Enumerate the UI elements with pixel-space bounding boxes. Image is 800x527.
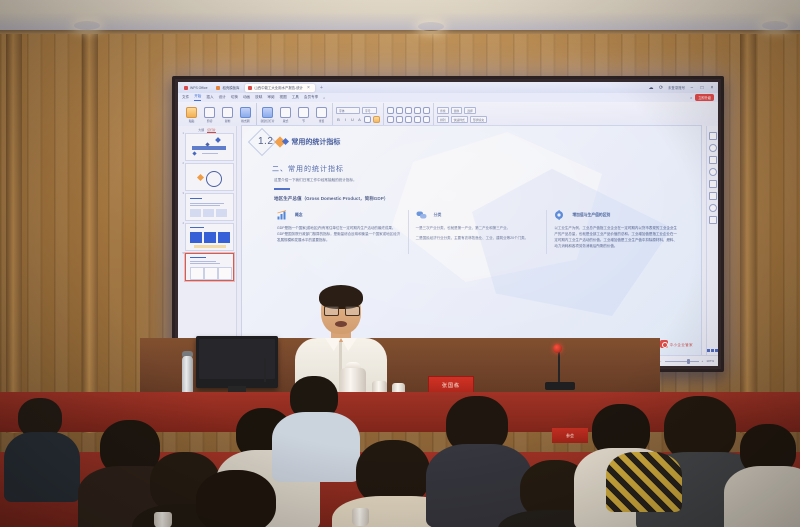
align-center-icon[interactable]: [396, 116, 403, 123]
thumbnail-preview[interactable]: [185, 223, 234, 251]
microphone-stalk-right: [558, 352, 560, 384]
account-label[interactable]: 未登录账号: [668, 85, 685, 90]
slide-section-header: 1.2 常用的统计指标: [258, 136, 340, 147]
thumbnail-item[interactable]: 1: [180, 133, 234, 161]
button-label: 节: [302, 119, 305, 123]
zoom-out-button[interactable]: −: [660, 359, 662, 363]
button-label: 版式: [283, 119, 289, 123]
media-icon[interactable]: [709, 144, 717, 152]
cloud-icon[interactable]: ☁: [648, 85, 654, 91]
slide-description: 这里介绍一下我们日常工作中经常接触的统计指标。: [274, 178, 357, 183]
slide-divider: [274, 188, 290, 190]
select-button[interactable]: 选择: [464, 107, 476, 114]
thumbnail-number: 2: [180, 163, 184, 166]
watermark-text: 中小企业管家: [670, 342, 693, 347]
menu-bar: 文件 开始 插入 设计 切换 动画 放映 审阅 视图 工具 会员专享 ⌕ ⌂ 立…: [178, 93, 718, 102]
tea-cup: [154, 512, 172, 527]
new-tab-button[interactable]: +: [318, 85, 325, 91]
title-bar: WPS Office 稻壳模板库 山西中能工大业用水产报告-统计 × + ☁: [178, 82, 718, 93]
zoom-slider-knob[interactable]: [687, 359, 690, 364]
menu-item-design[interactable]: 设计: [219, 95, 226, 100]
nameplate-text: 参会: [566, 433, 574, 439]
thumbnail-preview[interactable]: [185, 133, 234, 161]
edit-row-2: 排列 快速样式 形状填充: [437, 116, 487, 123]
menu-item-member[interactable]: 会员专享: [304, 95, 318, 100]
shape-fill-button[interactable]: 形状填充: [470, 116, 487, 123]
menu-item-tools[interactable]: 工具: [292, 95, 299, 100]
bullet-list-icon[interactable]: [387, 107, 394, 114]
bold-button[interactable]: B: [336, 117, 341, 122]
text-color-icon[interactable]: [364, 116, 371, 123]
tab-active-document[interactable]: 山西中能工大业用水产报告-统计 ×: [245, 84, 315, 92]
slide-thumbnail-panel[interactable]: 大纲 幻灯片 1: [178, 126, 237, 356]
slides-tab[interactable]: 幻灯片: [207, 128, 215, 133]
menu-item-animation[interactable]: 动画: [243, 95, 250, 100]
icon-library-icon[interactable]: [709, 192, 717, 200]
thumbnail-number: 1: [180, 133, 184, 136]
layout-button[interactable]: 版式: [278, 107, 293, 123]
design-ideas-icon[interactable]: [709, 132, 717, 140]
para-row-2: [387, 116, 430, 123]
slide-heading: 二、常用的统计指标: [272, 164, 344, 174]
wall-pillar: [6, 33, 22, 433]
ribbon-group-paragraph: [384, 103, 434, 127]
slide-columns: 概念 GDP是指一个国家(或地区)所有常住单位在一定时期内生产活动的最终成果。G…: [270, 210, 685, 254]
maximize-button[interactable]: □: [699, 85, 705, 91]
display-screen: WPS Office 稻壳模板库 山西中能工大业用水产报告-统计 × + ☁: [178, 82, 718, 366]
column-paragraph: 以工业生产为例，工业总产值指工业企业在一定时期内以货币表现的工业企业生产的产品总…: [554, 225, 678, 250]
display-screen-bezel: WPS Office 稻壳模板库 山西中能工大业用水产报告-统计 × + ☁: [172, 76, 724, 372]
cogwheel-icon: [554, 210, 565, 220]
thumbnail-preview[interactable]: [185, 193, 234, 221]
reset-icon: [316, 107, 327, 118]
conference-room-photo: WPS Office 稻壳模板库 山西中能工大业用水产报告-统计 × + ☁: [0, 0, 800, 527]
reset-button[interactable]: 重置: [314, 107, 329, 123]
replace-button[interactable]: 替换: [451, 107, 463, 114]
column-body: 以工业生产为例，工业总产值指工业企业在一定时期内以货币表现的工业企业生产的产品总…: [554, 225, 678, 250]
column-body: 一是三次产业分类，也就是第一产业、第二产业和第三产业。 二是国民经济行业分类，主…: [416, 225, 540, 241]
downlight-right-icon: [762, 21, 788, 30]
button-label: 粘贴: [189, 119, 195, 123]
downlight-left-icon: [74, 21, 100, 30]
search-icon[interactable]: ⌕: [323, 96, 325, 100]
align-justify-icon[interactable]: [414, 116, 421, 123]
downlight-center-icon: [418, 22, 444, 31]
slide-column-concept: 概念 GDP是指一个国家(或地区)所有常住单位在一定时期内生产活动的最终成果。G…: [270, 210, 409, 254]
zoom-in-button[interactable]: +: [702, 359, 704, 363]
table-icon[interactable]: [709, 180, 717, 188]
column-paragraph: 二是国民经济行业分类，主要有农林牧渔业、工业、建筑业等20个门类。: [416, 235, 540, 241]
section-number: 1.2: [258, 136, 273, 147]
tab-label: 山西中能工大业用水产报告-统计: [254, 85, 303, 90]
ribbon-group-slides: 新建幻灯片 版式 节 重置: [257, 103, 333, 127]
font-row-1: 字体 字号: [336, 107, 380, 114]
thumbnail-preview[interactable]: [185, 163, 234, 191]
button-label: 剪切: [207, 119, 213, 123]
new-slide-button[interactable]: 新建幻灯片: [260, 107, 275, 123]
thumbnail-number: 5: [180, 253, 184, 256]
align-right-icon[interactable]: [405, 116, 412, 123]
column-title: 增加值与生产值的区别: [572, 213, 610, 218]
thumbnail-number: 4: [180, 223, 184, 226]
close-icon[interactable]: ×: [305, 85, 312, 91]
column-body: GDP是指一个国家(或地区)所有常住单位在一定时期内生产活动的最终成果。GDP是…: [277, 225, 401, 243]
button-label: 新建幻灯片: [261, 119, 275, 123]
menu-item-review[interactable]: 审阅: [267, 95, 274, 100]
section-button[interactable]: 节: [296, 107, 311, 123]
microphone-base-right: [545, 382, 575, 390]
edit-row-1: 查找 替换 选择: [437, 107, 487, 114]
text-direction-icon[interactable]: [423, 116, 430, 123]
thumbnail-item[interactable]: 2: [180, 163, 234, 191]
underline-button[interactable]: U: [350, 117, 355, 122]
column-header: 分类: [416, 210, 540, 220]
format-painter-button[interactable]: 格式刷: [238, 107, 253, 123]
microphone-stalk-left: [264, 358, 266, 384]
outline-tab[interactable]: 大纲: [198, 128, 204, 132]
indent-increase-icon[interactable]: [414, 107, 421, 114]
rail-footer: [707, 349, 718, 352]
wall-pillar: [82, 33, 98, 433]
slide-column-difference: 增加值与生产值的区别 以工业生产为例，工业总产值指工业企业在一定时期内以货币表现…: [547, 210, 685, 254]
title-bar-right: ☁ ⟳ 未登录账号 − □ ×: [648, 85, 715, 91]
chat-bubbles-icon: [416, 210, 427, 220]
slide-term: 地区生产总值（Gross Domestic Product，简称GDP）: [274, 196, 388, 202]
view-reading-icon[interactable]: [715, 349, 718, 352]
column-title: 分类: [434, 213, 442, 218]
wall-pillar: [740, 33, 756, 433]
ribbon-group-font: 字体 字号 B I U A: [333, 103, 384, 127]
column-header: 概念: [277, 210, 401, 220]
new-slide-icon: [262, 107, 273, 118]
copy-icon: [222, 107, 233, 118]
presenter-mouth: [335, 321, 347, 327]
upgrade-button[interactable]: 立即升级: [695, 94, 714, 101]
text-effect-button[interactable]: A: [357, 117, 362, 122]
menu-item-slideshow[interactable]: 放映: [255, 95, 262, 100]
find-button[interactable]: 查找: [437, 107, 449, 114]
button-label: 复制: [225, 119, 231, 123]
menu-item-insert[interactable]: 插入: [206, 95, 213, 100]
tab-wps-home[interactable]: WPS Office: [181, 84, 210, 92]
line-spacing-icon[interactable]: [423, 107, 430, 114]
watermark-logo-icon: [660, 340, 668, 348]
thumbnail-item[interactable]: 4: [180, 223, 234, 251]
para-row-1: [387, 107, 430, 114]
column-paragraph: GDP是指一个国家(或地区)所有常住单位在一定时期内生产活动的最终成果。GDP是…: [277, 225, 401, 243]
ribbon-group-editing: 查找 替换 选择 排列 快速样式 形状填充: [434, 103, 490, 127]
column-header: 增加值与生产值的区别: [554, 210, 678, 220]
editing-controls: 查找 替换 选择 排列 快速样式 形状填充: [437, 107, 487, 123]
quick-style-button[interactable]: 快速样式: [451, 116, 468, 123]
menu-item-home[interactable]: 开始: [194, 94, 201, 101]
microphone-head-indicator: [553, 344, 562, 353]
tab-label: WPS Office: [190, 86, 207, 90]
view-sorter-icon[interactable]: [711, 349, 714, 352]
slide-column-classification: 分类 一是三次产业分类，也就是第一产业、第二产业和第三产业。 二是国民经济行业分…: [409, 210, 548, 254]
minimize-button[interactable]: −: [689, 85, 695, 91]
copy-button[interactable]: 复制: [220, 107, 235, 123]
arrange-button[interactable]: 排列: [437, 116, 449, 123]
presenter-glasses-icon: [324, 306, 358, 314]
shapes-icon[interactable]: [709, 156, 717, 164]
wps-office-window: WPS Office 稻壳模板库 山西中能工大业用水产报告-统计 × + ☁: [178, 82, 718, 366]
animation-pane-icon[interactable]: [709, 216, 717, 224]
font-row-2: B I U A: [336, 116, 380, 123]
share-icon[interactable]: ⌂: [690, 96, 692, 100]
thumbnail-number: 3: [180, 193, 184, 196]
work-area: 大纲 幻灯片 1: [178, 126, 718, 356]
format-painter-icon: [240, 107, 251, 118]
microphone-base-left: [254, 382, 276, 388]
menu-bar-right: ⌂ 立即升级: [690, 94, 714, 101]
template-icon: [216, 86, 220, 90]
paste-button[interactable]: 粘贴: [184, 107, 199, 123]
numbered-list-icon[interactable]: [396, 107, 403, 114]
menu-item-transition[interactable]: 切换: [231, 95, 238, 100]
align-left-icon[interactable]: [387, 116, 394, 123]
column-title: 概念: [295, 213, 303, 218]
font-controls: 字体 字号 B I U A: [336, 107, 380, 123]
scissors-icon: [204, 107, 215, 118]
slide-watermark: 中小企业管家: [660, 340, 693, 348]
button-label: 格式刷: [241, 119, 249, 123]
view-normal-icon[interactable]: [707, 349, 710, 352]
tab-template-store[interactable]: 稻壳模板库: [213, 84, 242, 92]
ppt-icon: [248, 86, 252, 90]
text-box-icon[interactable]: [709, 204, 717, 212]
section-icon: [298, 107, 309, 118]
italic-button[interactable]: I: [343, 117, 348, 122]
chart-icon[interactable]: [709, 168, 717, 176]
button-label: 重置: [319, 119, 325, 123]
paragraph-controls: [387, 107, 430, 123]
ceiling-edge: [0, 30, 800, 34]
font-size-select[interactable]: 字号: [362, 107, 377, 114]
nameplate-text: 张国栋: [442, 382, 460, 389]
tea-cup: [352, 508, 369, 526]
zoom-slider[interactable]: [665, 361, 699, 362]
wps-logo-icon: [184, 86, 188, 90]
sync-icon[interactable]: ⟳: [658, 85, 664, 91]
ribbon-group-clipboard: 粘贴 剪切 复制 格式刷: [181, 103, 257, 127]
cut-button[interactable]: 剪切: [202, 107, 217, 123]
font-family-select[interactable]: 字体: [336, 107, 360, 114]
thumbnail-item-current[interactable]: 5: [180, 253, 234, 281]
indent-decrease-icon[interactable]: [405, 107, 412, 114]
menu-item-view[interactable]: 视图: [280, 95, 287, 100]
close-button[interactable]: ×: [709, 85, 715, 91]
bar-chart-icon: [277, 210, 288, 220]
section-title: 常用的统计指标: [291, 137, 340, 147]
thumbnail-item[interactable]: 3: [180, 193, 234, 221]
menu-item-file[interactable]: 文件: [182, 95, 189, 100]
zoom-level[interactable]: 107%: [706, 359, 714, 363]
thumbnail-preview-current[interactable]: [185, 253, 234, 281]
tab-label: 稻壳模板库: [222, 85, 239, 90]
layout-icon: [280, 107, 291, 118]
highlight-icon[interactable]: [373, 116, 380, 123]
paste-icon: [186, 107, 197, 118]
nameplate-aisle: 参会: [552, 428, 588, 443]
column-paragraph: 一是三次产业分类，也就是第一产业、第二产业和第三产业。: [416, 225, 540, 231]
right-sidebar[interactable]: [706, 126, 718, 356]
